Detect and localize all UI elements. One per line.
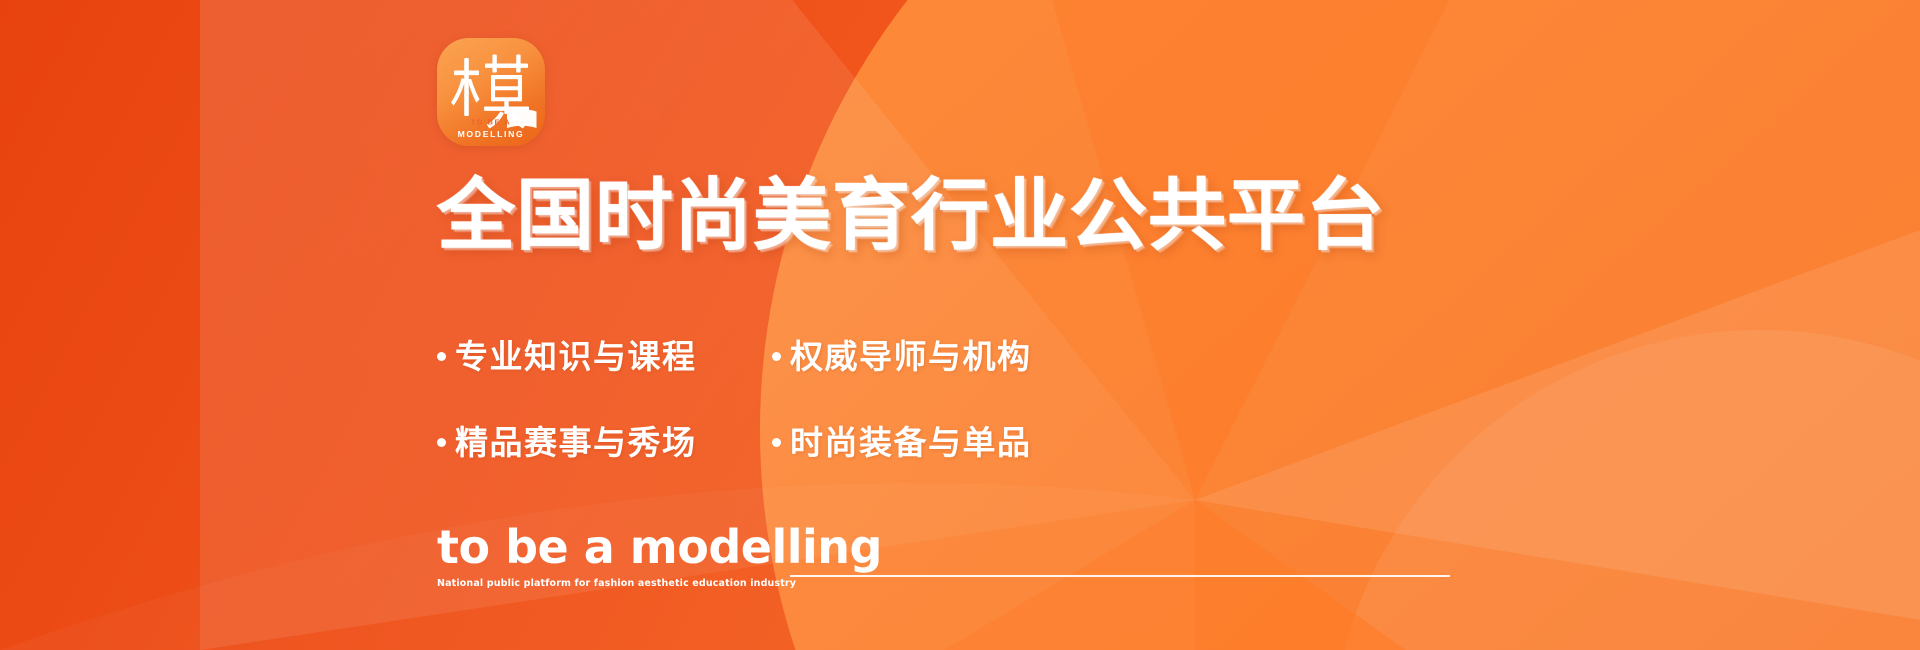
- svg-text:MODELLING: MODELLING: [458, 129, 525, 139]
- feature-list: 专业知识与课程 权威导师与机构 精品赛事与秀场 时尚装备与单品: [437, 332, 1077, 466]
- svg-text:TO BE A: TO BE A: [471, 118, 511, 127]
- feature-item-competitions[interactable]: 精品赛事与秀场: [437, 426, 772, 459]
- feature-item-equipment[interactable]: 时尚装备与单品: [772, 426, 1032, 459]
- feature-row: 精品赛事与秀场 时尚装备与单品: [437, 418, 1077, 466]
- page-title: 全国时尚美育行业公共平台: [437, 176, 1385, 254]
- banner-content: TO BE A MODELLING 全国时尚美育行业公共平台 专业知识与课程 权…: [0, 0, 1920, 650]
- feature-label: 权威导师与机构: [790, 340, 1032, 373]
- brand-logo-icon[interactable]: TO BE A MODELLING: [437, 38, 545, 146]
- bullet-dot-icon: [437, 438, 446, 447]
- feature-item-knowledge[interactable]: 专业知识与课程: [437, 340, 772, 373]
- bullet-dot-icon: [437, 352, 446, 361]
- bullet-dot-icon: [772, 352, 781, 361]
- horizontal-divider: [790, 575, 1450, 577]
- feature-item-mentors[interactable]: 权威导师与机构: [772, 340, 1032, 373]
- bullet-dot-icon: [772, 438, 781, 447]
- feature-label: 时尚装备与单品: [790, 426, 1032, 459]
- wordmark-title: to be a modelling: [437, 524, 737, 570]
- promo-banner: TO BE A MODELLING 全国时尚美育行业公共平台 专业知识与课程 权…: [0, 0, 1920, 650]
- wordmark-subtitle: National public platform for fashion aes…: [437, 579, 737, 589]
- feature-label: 精品赛事与秀场: [455, 426, 697, 459]
- feature-row: 专业知识与课程 权威导师与机构: [437, 332, 1077, 380]
- feature-label: 专业知识与课程: [455, 340, 697, 373]
- brand-wordmark: to be a modelling National public platfo…: [437, 524, 737, 589]
